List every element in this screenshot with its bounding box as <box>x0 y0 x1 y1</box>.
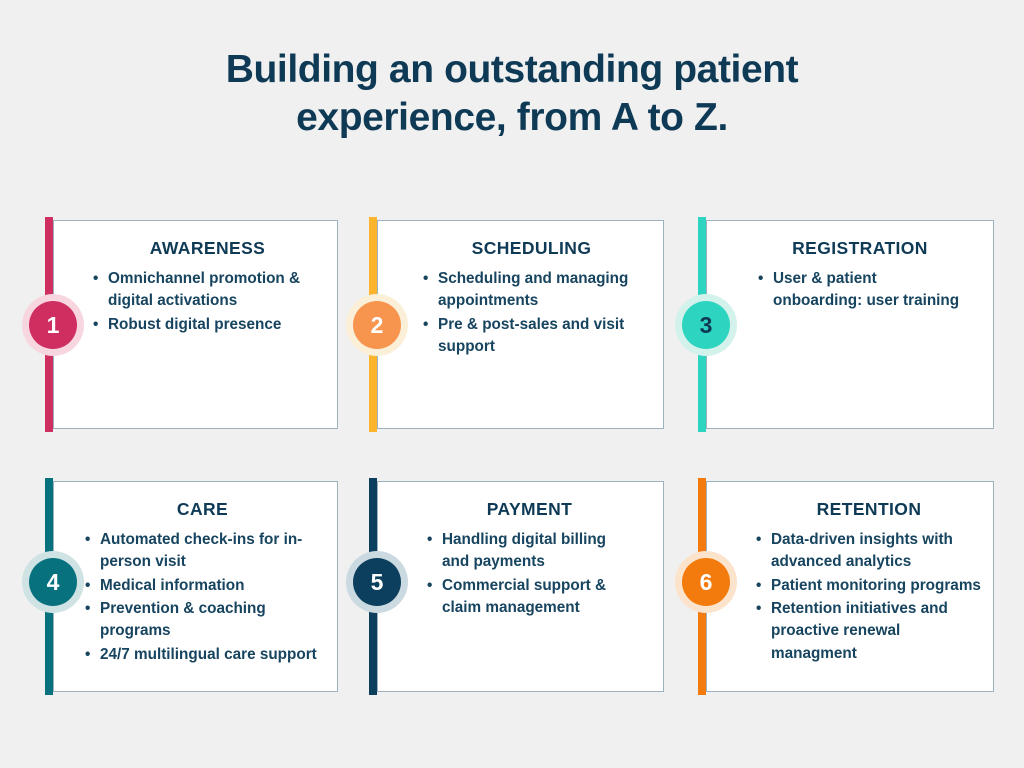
stage-bullet-item: •Retention initiatives and proactive ren… <box>754 598 984 665</box>
stage-bullet-item: • Omnichannel promotion & digital activa… <box>91 268 324 313</box>
stage-bullet-text: User & patient onboarding: user training <box>773 270 959 309</box>
stage-content: REGISTRATION•User & patient onboarding: … <box>706 220 994 429</box>
stage-content: PAYMENT•Handling digital billing and pay… <box>377 481 664 692</box>
bullet-dot-icon: • <box>427 575 432 597</box>
bullet-dot-icon: • <box>85 598 90 620</box>
stage-card-care[interactable]: CARE•Automated check-ins for in-person v… <box>53 481 338 692</box>
stage-bullet-item: •Handling digital billing and payments <box>425 529 634 574</box>
stage-bullet-text: Patient monitoring programs <box>771 577 981 594</box>
stage-bullet-text: Handling digital billing and payments <box>442 531 606 570</box>
bullet-dot-icon: • <box>756 575 761 597</box>
stage-bullet-item: •24/7 multilingual care support <box>83 644 322 666</box>
stage-number-label: 2 <box>353 301 401 349</box>
stage-content: RETENTION•Data-driven insights with adva… <box>706 481 994 692</box>
stage-bullet-list: •Handling digital billing and payments•C… <box>425 529 634 619</box>
stage-bullet-text: Robust digital presence <box>108 316 281 333</box>
stage-card-retention[interactable]: RETENTION•Data-driven insights with adva… <box>706 481 994 692</box>
stage-bullet-text: Prevention & coaching programs <box>100 600 266 639</box>
stage-bullet-text: Retention initiatives and proactive rene… <box>771 600 948 662</box>
stage-number-label: 1 <box>29 301 77 349</box>
stage-bullet-text: Automated check-ins for in-person visit <box>100 531 302 570</box>
stage-bullet-item: •Prevention & coaching programs <box>83 598 322 643</box>
stage-bullet-text: Medical information <box>100 577 244 594</box>
stage-number-badge-3[interactable]: 3 <box>675 294 737 356</box>
stage-card-awareness[interactable]: AWARENESS• Omnichannel promotion & digit… <box>53 220 338 429</box>
stage-heading: RETENTION <box>754 499 984 520</box>
stage-bullet-text: Pre & post-sales and visit support <box>438 316 624 355</box>
bullet-dot-icon: • <box>423 268 428 290</box>
stage-bullet-list: •Automated check-ins for in-person visit… <box>83 529 322 666</box>
bullet-dot-icon: • <box>93 268 98 290</box>
bullet-dot-icon: • <box>93 314 98 336</box>
stage-heading: REGISTRATION <box>756 238 964 259</box>
stage-card-payment[interactable]: PAYMENT•Handling digital billing and pay… <box>377 481 664 692</box>
bullet-dot-icon: • <box>758 268 763 290</box>
stage-heading: PAYMENT <box>425 499 634 520</box>
stage-bullet-item: •Medical information <box>83 575 322 597</box>
stage-bullet-text: Scheduling and managing appointments <box>438 270 628 309</box>
stage-number-label: 6 <box>682 558 730 606</box>
stage-number-badge-1[interactable]: 1 <box>22 294 84 356</box>
stage-bullet-item: •Automated check-ins for in-person visit <box>83 529 322 574</box>
bullet-dot-icon: • <box>85 529 90 551</box>
stage-content: CARE•Automated check-ins for in-person v… <box>53 481 338 692</box>
stage-number-label: 3 <box>682 301 730 349</box>
stage-card-scheduling[interactable]: SCHEDULING•Scheduling and managing appoi… <box>377 220 664 429</box>
stage-content: SCHEDULING•Scheduling and managing appoi… <box>377 220 664 429</box>
bullet-dot-icon: • <box>85 644 90 666</box>
bullet-dot-icon: • <box>756 598 761 620</box>
bullet-dot-icon: • <box>85 575 90 597</box>
stage-bullet-item: •Commercial support & claim management <box>425 575 634 620</box>
stage-number-badge-4[interactable]: 4 <box>22 551 84 613</box>
stage-bullet-text: 24/7 multilingual care support <box>100 646 317 663</box>
stage-bullet-text: Commercial support & claim management <box>442 577 606 616</box>
stage-heading: AWARENESS <box>91 238 324 259</box>
stage-heading: SCHEDULING <box>421 238 642 259</box>
stage-bullet-item: •Scheduling and managing appointments <box>421 268 642 313</box>
stage-bullet-item: •Data-driven insights with advanced anal… <box>754 529 984 574</box>
bullet-dot-icon: • <box>756 529 761 551</box>
stage-bullet-list: •Data-driven insights with advanced anal… <box>754 529 984 665</box>
stages-grid: AWARENESS• Omnichannel promotion & digit… <box>0 0 1024 768</box>
stage-heading: CARE <box>83 499 322 520</box>
stage-bullet-item: •Pre & post-sales and visit support <box>421 314 642 359</box>
stage-bullet-list: • Omnichannel promotion & digital activa… <box>91 268 324 336</box>
bullet-dot-icon: • <box>427 529 432 551</box>
stage-bullet-list: •Scheduling and managing appointments•Pr… <box>421 268 642 358</box>
stage-bullet-item: •User & patient onboarding: user trainin… <box>756 268 964 313</box>
stage-bullet-text: Data-driven insights with advanced analy… <box>771 531 953 570</box>
stage-number-badge-6[interactable]: 6 <box>675 551 737 613</box>
stage-card-registration[interactable]: REGISTRATION•User & patient onboarding: … <box>706 220 994 429</box>
stage-bullet-list: •User & patient onboarding: user trainin… <box>756 268 964 313</box>
stage-bullet-item: •Robust digital presence <box>91 314 324 336</box>
stage-bullet-item: •Patient monitoring programs <box>754 575 984 597</box>
stage-number-label: 5 <box>353 558 401 606</box>
stage-content: AWARENESS• Omnichannel promotion & digit… <box>53 220 338 429</box>
stage-number-badge-2[interactable]: 2 <box>346 294 408 356</box>
stage-number-label: 4 <box>29 558 77 606</box>
stage-bullet-text: Omnichannel promotion & digital activati… <box>108 270 300 309</box>
bullet-dot-icon: • <box>423 314 428 336</box>
stage-number-badge-5[interactable]: 5 <box>346 551 408 613</box>
